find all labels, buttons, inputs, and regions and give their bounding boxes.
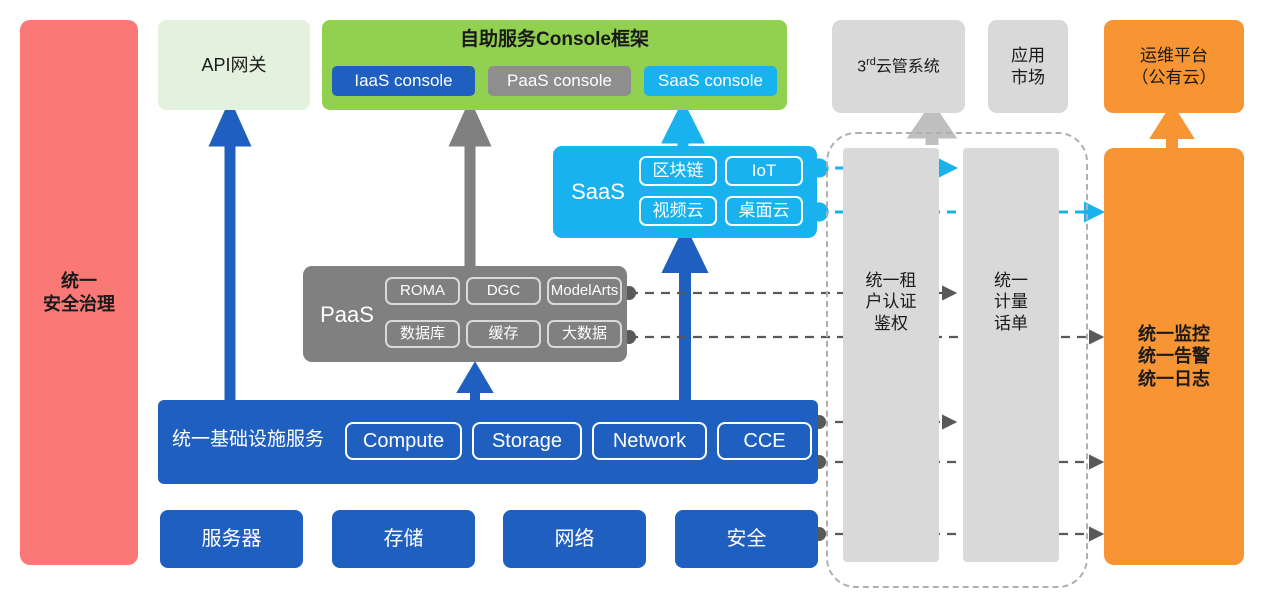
arrow-infra-to-saas — [671, 238, 699, 400]
security-governance-line2: 安全治理 — [43, 293, 115, 316]
saas-service-desktop-cloud[interactable]: 桌面云 — [725, 196, 803, 226]
saas-console-chip[interactable]: SaaS console — [644, 66, 777, 96]
arrow-infra-to-paas — [465, 371, 485, 400]
infra-service-compute[interactable]: Compute — [345, 422, 462, 460]
ops-platform-public-cloud-box[interactable]: 运维平台 （公有云） — [1104, 20, 1244, 113]
unified-metering-billing-column[interactable]: 统一 计量 话单 — [963, 148, 1059, 562]
resource-label: 服务器 — [202, 527, 262, 552]
arrow-infra-to-api-gateway — [217, 112, 243, 400]
metering-line3: 话单 — [994, 313, 1028, 334]
security-governance-line1: 统一 — [43, 270, 115, 293]
tenant-auth-line1: 统一租 — [866, 270, 917, 291]
infra-service-cce[interactable]: CCE — [717, 422, 812, 460]
architecture-diagram: 统一 安全治理 API网关 自助服务Console框架 IaaS console… — [0, 0, 1265, 605]
infra-service-storage[interactable]: Storage — [472, 422, 582, 460]
paas-service-database[interactable]: 数据库 — [385, 320, 460, 348]
console-frame-title: 自助服务Console框架 — [322, 28, 787, 52]
saas-service-blockchain[interactable]: 区块链 — [639, 156, 717, 186]
arrow-up-to-ops-platform — [1160, 114, 1184, 148]
paas-service-roma[interactable]: ROMA — [385, 277, 460, 305]
saas-service-label: 视频云 — [653, 200, 704, 221]
arrow-saas-to-saas-console — [670, 112, 696, 146]
ops-platform-line1: 运维平台 — [1132, 45, 1217, 66]
metering-line1: 统一 — [994, 270, 1028, 291]
resource-label: 网络 — [555, 527, 595, 552]
third-party-cloud-mgmt-box[interactable]: 3rd云管系统 — [832, 20, 965, 113]
unified-infrastructure-services-bar: 统一基础设施服务 Compute Storage Network CCE — [158, 400, 818, 484]
paas-service-modelarts[interactable]: ModelArts — [547, 277, 622, 305]
paas-service-label: ROMA — [400, 282, 445, 301]
paas-service-label: ModelArts — [551, 282, 619, 301]
self-service-console-frame: 自助服务Console框架 IaaS console PaaS console … — [322, 20, 787, 110]
unified-monitoring-panel[interactable]: 统一监控 统一告警 统一日志 — [1104, 148, 1244, 565]
app-market-box[interactable]: 应用 市场 — [988, 20, 1068, 113]
paas-console-label: PaaS console — [507, 70, 612, 91]
infra-service-label: Storage — [492, 429, 562, 454]
paas-service-label: DGC — [487, 282, 520, 301]
paas-block: PaaS ROMA DGC ModelArts 数据库 缓存 大数据 — [303, 266, 627, 362]
tenant-auth-line3: 鉴权 — [866, 313, 917, 334]
third-cloud-ordinal: rd — [866, 56, 876, 68]
paas-service-cache[interactable]: 缓存 — [466, 320, 541, 348]
iaas-console-chip[interactable]: IaaS console — [332, 66, 475, 96]
metering-line2: 计量 — [994, 291, 1028, 312]
paas-label: PaaS — [311, 301, 383, 329]
resource-box-network[interactable]: 网络 — [503, 510, 646, 568]
paas-console-chip[interactable]: PaaS console — [488, 66, 631, 96]
ops-platform-line2: （公有云） — [1132, 67, 1217, 88]
api-gateway-box[interactable]: API网关 — [158, 20, 310, 110]
infra-service-label: Compute — [363, 429, 444, 454]
saas-service-video-cloud[interactable]: 视频云 — [639, 196, 717, 226]
unified-tenant-auth-column[interactable]: 统一租 户认证 鉴权 — [843, 148, 939, 562]
saas-service-label: 区块链 — [653, 160, 704, 181]
resource-box-server[interactable]: 服务器 — [160, 510, 303, 568]
paas-service-label: 数据库 — [400, 325, 445, 344]
saas-service-label: 桌面云 — [739, 200, 790, 221]
ops-panel-line1: 统一监控 — [1138, 323, 1210, 346]
security-governance-panel[interactable]: 统一 安全治理 — [20, 20, 138, 565]
saas-service-iot[interactable]: IoT — [725, 156, 803, 186]
ops-panel-line3: 统一日志 — [1138, 368, 1210, 391]
saas-block: SaaS 区块链 IoT 视频云 桌面云 — [553, 146, 817, 238]
resource-label: 安全 — [727, 527, 767, 552]
ops-panel-line2: 统一告警 — [1138, 345, 1210, 368]
third-cloud-suffix: 云管系统 — [876, 58, 940, 75]
app-market-line2: 市场 — [1011, 67, 1045, 88]
saas-console-label: SaaS console — [658, 70, 763, 91]
infra-service-network[interactable]: Network — [592, 422, 707, 460]
third-cloud-prefix: 3 — [857, 58, 866, 75]
api-gateway-label: API网关 — [201, 54, 266, 77]
resource-box-storage[interactable]: 存储 — [332, 510, 475, 568]
tenant-auth-line2: 户认证 — [866, 291, 917, 312]
paas-service-bigdata[interactable]: 大数据 — [547, 320, 622, 348]
resource-box-security[interactable]: 安全 — [675, 510, 818, 568]
resource-label: 存储 — [384, 527, 424, 552]
paas-service-label: 缓存 — [488, 325, 518, 344]
saas-service-label: IoT — [752, 160, 777, 181]
infra-bar-label: 统一基础设施服务 — [172, 428, 324, 452]
paas-service-label: 大数据 — [562, 325, 607, 344]
app-market-line1: 应用 — [1011, 45, 1045, 66]
iaas-console-label: IaaS console — [354, 70, 452, 91]
infra-service-label: Network — [613, 429, 686, 454]
saas-label: SaaS — [563, 178, 633, 206]
infra-service-label: CCE — [743, 429, 785, 454]
paas-service-dgc[interactable]: DGC — [466, 277, 541, 305]
